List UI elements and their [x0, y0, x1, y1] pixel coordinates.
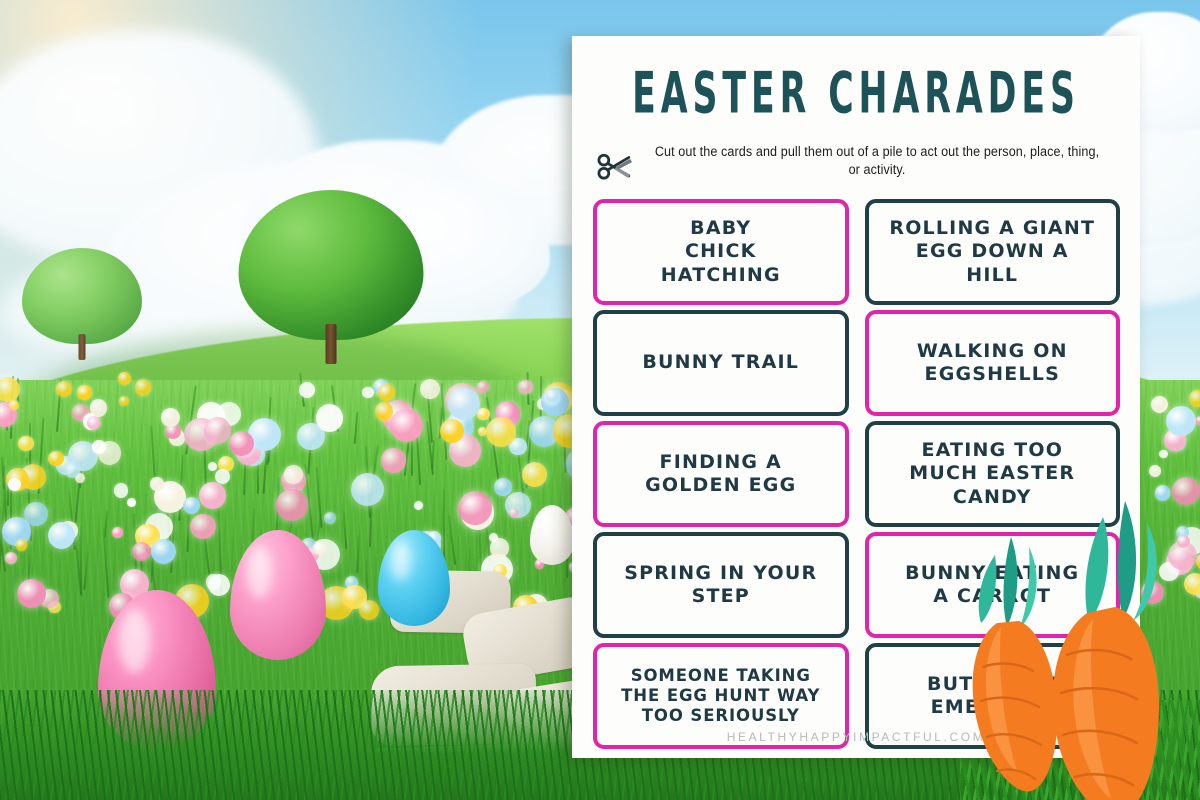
- flower: [1149, 465, 1161, 477]
- small-tree: [22, 248, 142, 358]
- flower: [448, 388, 480, 420]
- flower: [276, 489, 307, 520]
- charade-card[interactable]: BABY CHICK HATCHING: [593, 199, 849, 305]
- flower: [208, 574, 230, 596]
- flower: [1159, 450, 1167, 458]
- flower: [351, 473, 385, 507]
- flower: [9, 400, 19, 410]
- flower: [18, 436, 33, 451]
- flower: [362, 387, 374, 399]
- flower: [48, 451, 64, 467]
- flower: [1172, 477, 1200, 505]
- flower: [509, 508, 519, 518]
- flower: [132, 542, 151, 561]
- flower: [518, 380, 532, 394]
- charade-card[interactable]: WALKING ON EGGSHELLS: [865, 310, 1121, 416]
- flower-stem: [102, 528, 109, 598]
- carrot-leaf-large: [1085, 501, 1156, 623]
- flower: [112, 527, 123, 538]
- flower: [1196, 416, 1200, 424]
- flower: [316, 404, 344, 432]
- scissors-icon: [594, 147, 636, 189]
- charade-card-label: BABY CHICK HATCHING: [653, 217, 789, 287]
- flower-stem: [343, 511, 347, 549]
- flower: [199, 482, 226, 509]
- flower: [190, 514, 215, 539]
- flower: [8, 478, 21, 491]
- flower: [24, 502, 48, 526]
- flower: [215, 469, 230, 484]
- carrot-large: [1053, 607, 1159, 800]
- flower: [1166, 406, 1196, 436]
- flower: [229, 431, 254, 456]
- flower: [486, 417, 516, 447]
- flower: [390, 409, 423, 442]
- instructions-row: Cut out the cards and pull them out of a…: [572, 143, 1140, 189]
- flower: [1177, 535, 1190, 548]
- flower-stem: [83, 552, 89, 590]
- carrot-small: [973, 621, 1058, 791]
- flower: [118, 372, 131, 385]
- flower: [1184, 573, 1200, 595]
- flower: [119, 396, 129, 406]
- flower: [127, 498, 136, 507]
- flower: [1151, 396, 1168, 413]
- flower: [48, 522, 75, 549]
- flower: [183, 497, 200, 514]
- charade-card[interactable]: FINDING A GOLDEN EGG: [593, 421, 849, 527]
- large-tree: [238, 190, 423, 360]
- flower: [135, 379, 152, 396]
- flower: [477, 381, 489, 393]
- flower: [1189, 390, 1200, 407]
- flower: [87, 416, 101, 430]
- flower-stem: [316, 467, 323, 527]
- flower: [324, 512, 336, 524]
- flower: [420, 379, 440, 399]
- flower: [208, 462, 217, 471]
- flower: [90, 399, 107, 416]
- flower: [381, 448, 406, 473]
- charade-card-label: WALKING ON EGGSHELLS: [909, 340, 1076, 386]
- flower: [440, 419, 464, 443]
- flower: [299, 382, 316, 399]
- flower: [56, 381, 72, 397]
- flower: [0, 377, 20, 402]
- carrot-illustrations: [935, 495, 1170, 800]
- flower: [546, 389, 559, 402]
- flower: [414, 501, 423, 510]
- flower: [5, 552, 17, 564]
- charade-card[interactable]: SPRING IN YOUR STEP: [593, 532, 849, 638]
- flower-stem: [448, 515, 456, 565]
- carrot-leaf-small: [979, 537, 1037, 629]
- flower-stem: [356, 535, 360, 573]
- flower-stem: [187, 515, 190, 552]
- instructions-text: Cut out the cards and pull them out of a…: [650, 143, 1103, 178]
- charade-card-label: SOMEONE TAKING THE EGG HUNT WAY TOO SERI…: [613, 666, 828, 726]
- flower: [161, 408, 180, 427]
- flower: [114, 483, 128, 497]
- charade-card-label: FINDING A GOLDEN EGG: [637, 451, 804, 497]
- flower: [204, 417, 231, 444]
- charade-card[interactable]: ROLLING A GIANT EGG DOWN A HILL: [865, 199, 1121, 305]
- flower: [378, 384, 395, 401]
- flower: [16, 539, 27, 550]
- flower: [458, 491, 492, 525]
- page-title: EASTER CHARADES: [623, 60, 1089, 127]
- flower: [92, 440, 106, 454]
- flower-stem: [431, 440, 435, 469]
- charade-card-label: SPRING IN YOUR STEP: [616, 562, 825, 608]
- charade-card[interactable]: BUNNY TRAIL: [593, 310, 849, 416]
- flower-stem: [354, 412, 359, 444]
- charade-card-label: BUNNY TRAIL: [634, 351, 807, 374]
- flower: [77, 385, 91, 399]
- charade-card-label: ROLLING A GIANT EGG DOWN A HILL: [881, 217, 1103, 287]
- flower: [522, 462, 547, 487]
- flower: [150, 477, 163, 490]
